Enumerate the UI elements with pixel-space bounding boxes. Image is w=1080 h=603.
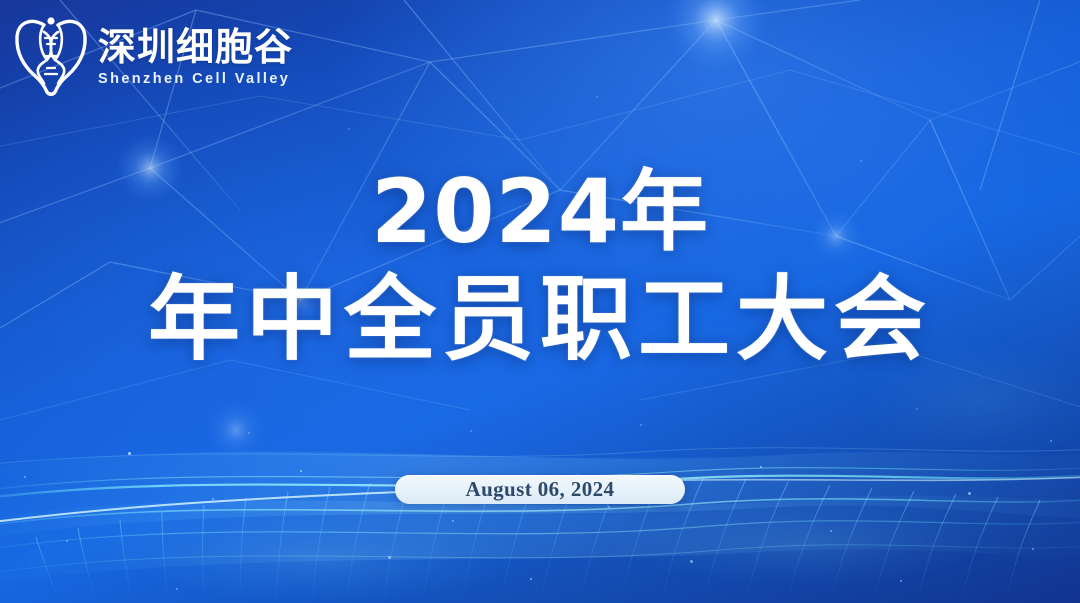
brand-text: 深圳细胞谷 Shenzhen Cell Valley xyxy=(98,28,293,87)
particle-dot xyxy=(176,588,178,590)
title-line-event: 年中全员职工大会 xyxy=(0,274,1080,366)
particle-dot xyxy=(596,96,598,98)
particle-dot xyxy=(860,160,862,162)
brand-name-en: Shenzhen Cell Valley xyxy=(98,71,293,87)
particle-dot xyxy=(1050,440,1052,442)
particle-dot xyxy=(1032,548,1034,550)
conference-banner: 深圳细胞谷 Shenzhen Cell Valley 2024年 年中全员职工大… xyxy=(0,0,1080,603)
particle-dot xyxy=(388,556,391,559)
particle-dot xyxy=(900,580,902,582)
particle-dot xyxy=(830,530,832,532)
particle-dot xyxy=(608,506,610,508)
particle-dot xyxy=(760,466,762,468)
particle-dot xyxy=(128,452,131,455)
particle-dot xyxy=(470,430,472,432)
particle-dot xyxy=(452,520,454,522)
brand-name-cn: 深圳细胞谷 xyxy=(98,28,293,68)
date-badge-label: August 06, 2024 xyxy=(466,477,615,502)
particle-dot xyxy=(300,470,302,472)
particle-dot xyxy=(66,540,68,542)
particle-dot xyxy=(248,432,250,434)
date-badge: August 06, 2024 xyxy=(395,475,685,504)
particle-dot xyxy=(530,578,532,580)
page-title: 2024年 年中全员职工大会 xyxy=(0,168,1080,366)
particle-dot xyxy=(968,492,971,495)
particle-dot xyxy=(212,498,214,500)
particle-dot xyxy=(24,476,26,478)
dna-shield-icon xyxy=(14,12,88,103)
brand-logo: 深圳细胞谷 Shenzhen Cell Valley xyxy=(14,12,293,103)
particle-dot xyxy=(916,408,918,410)
particle-dot xyxy=(348,128,350,130)
particle-dot xyxy=(640,424,642,426)
particle-dot xyxy=(690,560,693,563)
title-line-year: 2024年 xyxy=(0,168,1080,256)
